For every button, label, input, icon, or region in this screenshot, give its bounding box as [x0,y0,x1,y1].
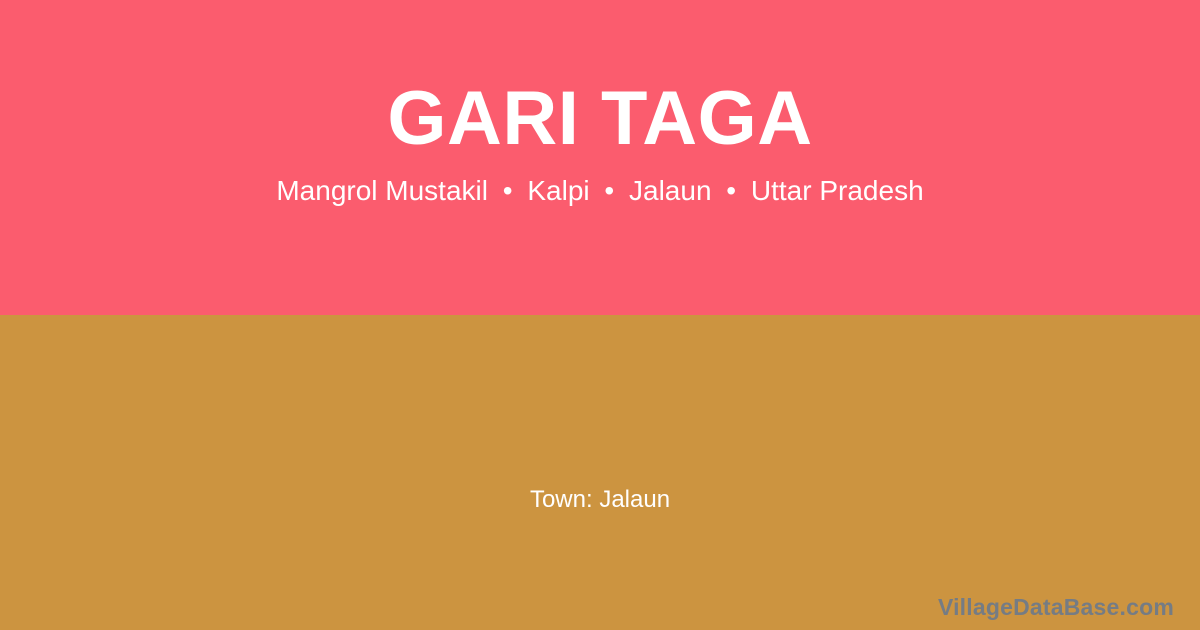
site-watermark: VillageDataBase.com [938,593,1174,621]
breadcrumb-item-district: Jalaun [629,175,712,206]
breadcrumb-separator-icon: • [597,174,621,208]
body-panel: Town: Jalaun [0,315,1200,630]
hero-banner: GARI TAGA Mangrol Mustakil • Kalpi • Jal… [0,0,1200,315]
breadcrumb-separator-icon: • [719,174,743,208]
page-title: GARI TAGA [387,78,812,160]
town-info: Town: Jalaun [0,315,1200,630]
breadcrumb-item-state: Uttar Pradesh [751,175,924,206]
town-label: Town: Jalaun [530,485,670,515]
breadcrumb-item-block: Kalpi [527,175,589,206]
village-info-card: GARI TAGA Mangrol Mustakil • Kalpi • Jal… [0,0,1200,630]
breadcrumb-separator-icon: • [496,174,520,208]
breadcrumb: Mangrol Mustakil • Kalpi • Jalaun • Utta… [276,174,923,208]
breadcrumb-item-village: Mangrol Mustakil [276,175,488,206]
